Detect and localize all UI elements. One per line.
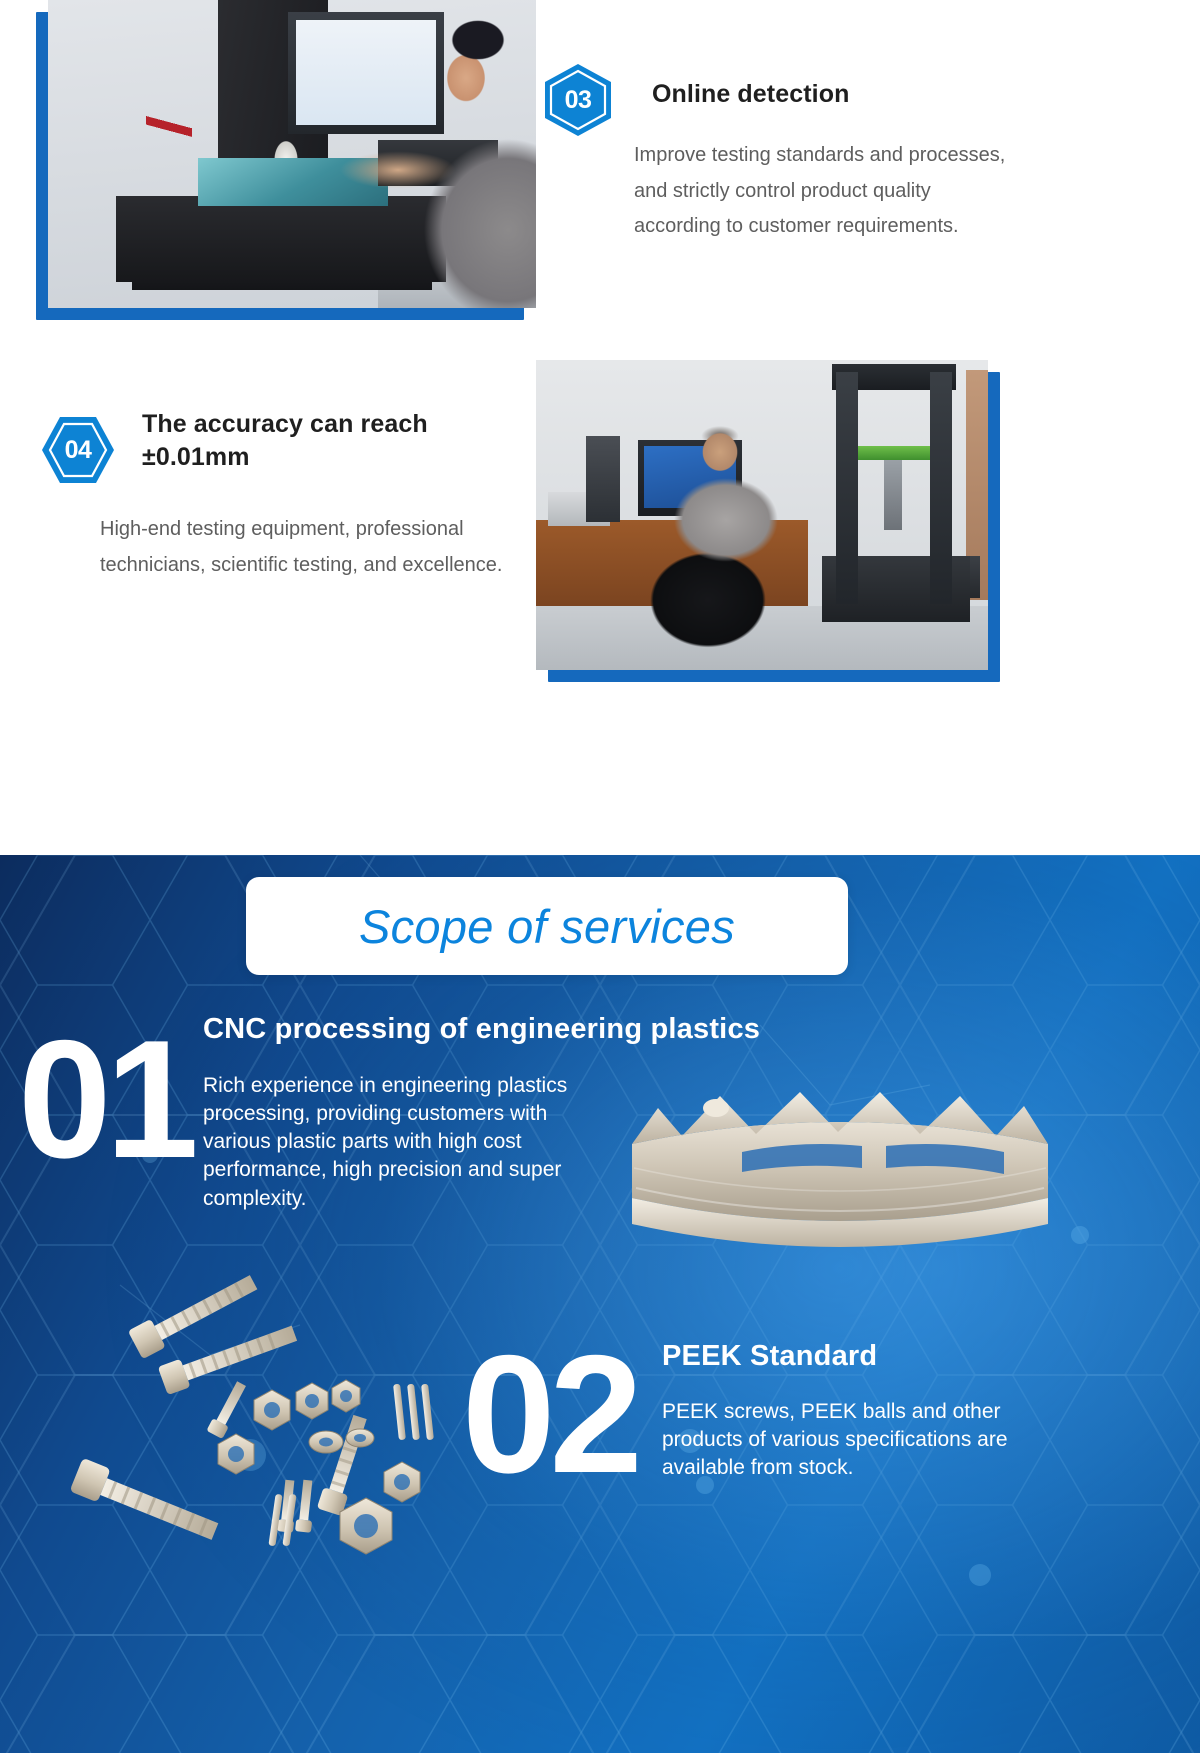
scope-title-card: Scope of services <box>246 877 848 975</box>
scope-heading: Scope of services <box>359 899 735 954</box>
scope-item-title-01: CNC processing of engineering plastics <box>203 1013 963 1046</box>
feature-image-online-detection <box>36 12 524 320</box>
features-section: 03 Online detection Improve testing stan… <box>0 0 1200 855</box>
feature-body-online-detection: Improve testing standards and processes,… <box>634 138 1014 245</box>
product-feature-page: 03 Online detection Improve testing stan… <box>0 0 1200 1753</box>
photo-tensile-testing-machine <box>536 360 988 670</box>
feature-title-accuracy: The accuracy can reach ±0.01mm <box>142 408 532 474</box>
product-image-peek-screws <box>40 1272 460 1572</box>
scope-item-number-01: 01 <box>18 1015 193 1183</box>
feature-badge-04: 04 <box>40 412 116 488</box>
product-image-peek-chain-part <box>624 1048 1056 1280</box>
feature-body-accuracy: High-end testing equipment, professional… <box>100 512 530 583</box>
feature-image-accuracy <box>548 372 1000 682</box>
scope-item-title-02: PEEK Standard <box>662 1340 1082 1373</box>
scope-item-number-02: 02 <box>462 1330 637 1498</box>
scope-item-body-01: Rich experience in engineering plastics … <box>203 1072 603 1213</box>
feature-badge-03: 03 <box>540 62 616 138</box>
scope-item-body-02: PEEK screws, PEEK balls and other produc… <box>662 1398 1064 1482</box>
photo-optical-measuring-machine <box>48 0 536 308</box>
feature-badge-03-number: 03 <box>540 62 616 138</box>
feature-badge-04-number: 04 <box>40 412 116 488</box>
feature-title-online-detection: Online detection <box>652 78 1032 111</box>
